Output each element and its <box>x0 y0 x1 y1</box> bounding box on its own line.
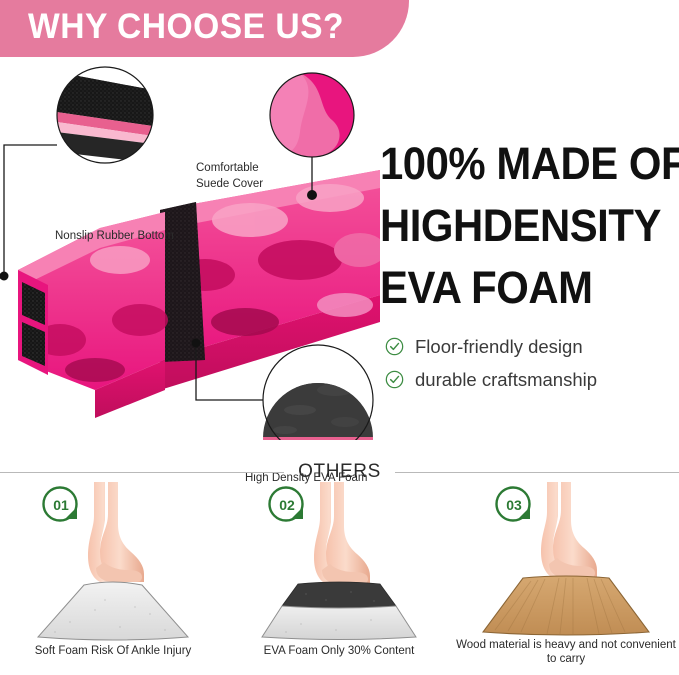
step-badge: 02 <box>267 485 307 525</box>
board-graphic <box>483 576 649 635</box>
feet-graphic <box>314 482 370 584</box>
feet-graphic <box>88 482 144 582</box>
feature-label: durable craftsmanship <box>415 369 597 391</box>
divider-line-right <box>395 472 679 473</box>
feature-list: Floor-friendly design durable craftsmans… <box>385 330 597 396</box>
callout-rubber-circle <box>57 67 153 163</box>
callout-suede-dot <box>307 190 317 200</box>
section-divider: OTHERS <box>0 462 679 482</box>
step-badge: 01 <box>41 485 81 525</box>
feature-label: Floor-friendly design <box>415 336 583 358</box>
infographic-page: WHY CHOOSE US? <box>0 0 679 675</box>
eva-foam-illustration <box>226 482 452 647</box>
headline-block: 100% MADE OF HIGHDENSITY EVA FOAM <box>380 133 675 319</box>
comparison-section: 01 Soft Foam Risk Of Ankle Injury <box>0 482 679 675</box>
feature-item: Floor-friendly design <box>385 330 597 363</box>
callout-suede-circle <box>270 73 358 157</box>
divider-label: OTHERS <box>284 461 395 483</box>
comparison-caption: Wood material is heavy and not convenien… <box>453 638 679 666</box>
callout-label-suede: Comfortable Suede Cover <box>196 160 274 192</box>
comparison-caption: Soft Foam Risk Of Ankle Injury <box>0 644 226 658</box>
callout-eva-dot <box>192 339 201 348</box>
comparison-column: 02 EVA Foam Only 30% Content <box>226 482 452 675</box>
product-photo-area: Nonslip Rubber Bottom Comfortable Suede … <box>0 60 380 440</box>
comparison-column: 01 Soft Foam Risk Of Ankle Injury <box>0 482 226 675</box>
feature-item: durable craftsmanship <box>385 363 597 396</box>
soft-foam-illustration <box>0 482 226 647</box>
callout-eva-circle <box>263 345 373 440</box>
badge-number: 03 <box>494 485 534 525</box>
divider-line-left <box>0 472 284 473</box>
wood-board-illustration <box>453 482 679 647</box>
headline-line-1: 100% MADE OF <box>380 133 654 195</box>
callout-rubber-dot <box>0 272 9 281</box>
header-banner: WHY CHOOSE US? <box>0 0 409 57</box>
step-badge: 03 <box>494 485 534 525</box>
headline-line-2: HIGHDENSITY <box>380 195 654 257</box>
mat-graphic <box>262 582 416 640</box>
callout-label-rubber: Nonslip Rubber Bottom <box>55 230 174 242</box>
check-circle-icon <box>385 337 404 356</box>
badge-number: 01 <box>41 485 81 525</box>
mat-graphic <box>38 582 188 640</box>
product-illustration <box>0 60 380 440</box>
page-title: WHY CHOOSE US? <box>28 7 344 47</box>
feet-graphic <box>541 482 597 578</box>
comparison-column: 03 Wood material is heavy and not conven… <box>453 482 679 675</box>
comparison-caption: EVA Foam Only 30% Content <box>226 644 452 658</box>
headline-line-3: EVA FOAM <box>380 257 654 319</box>
beam-segment-left <box>18 212 168 418</box>
check-circle-icon <box>385 370 404 389</box>
badge-number: 02 <box>267 485 307 525</box>
